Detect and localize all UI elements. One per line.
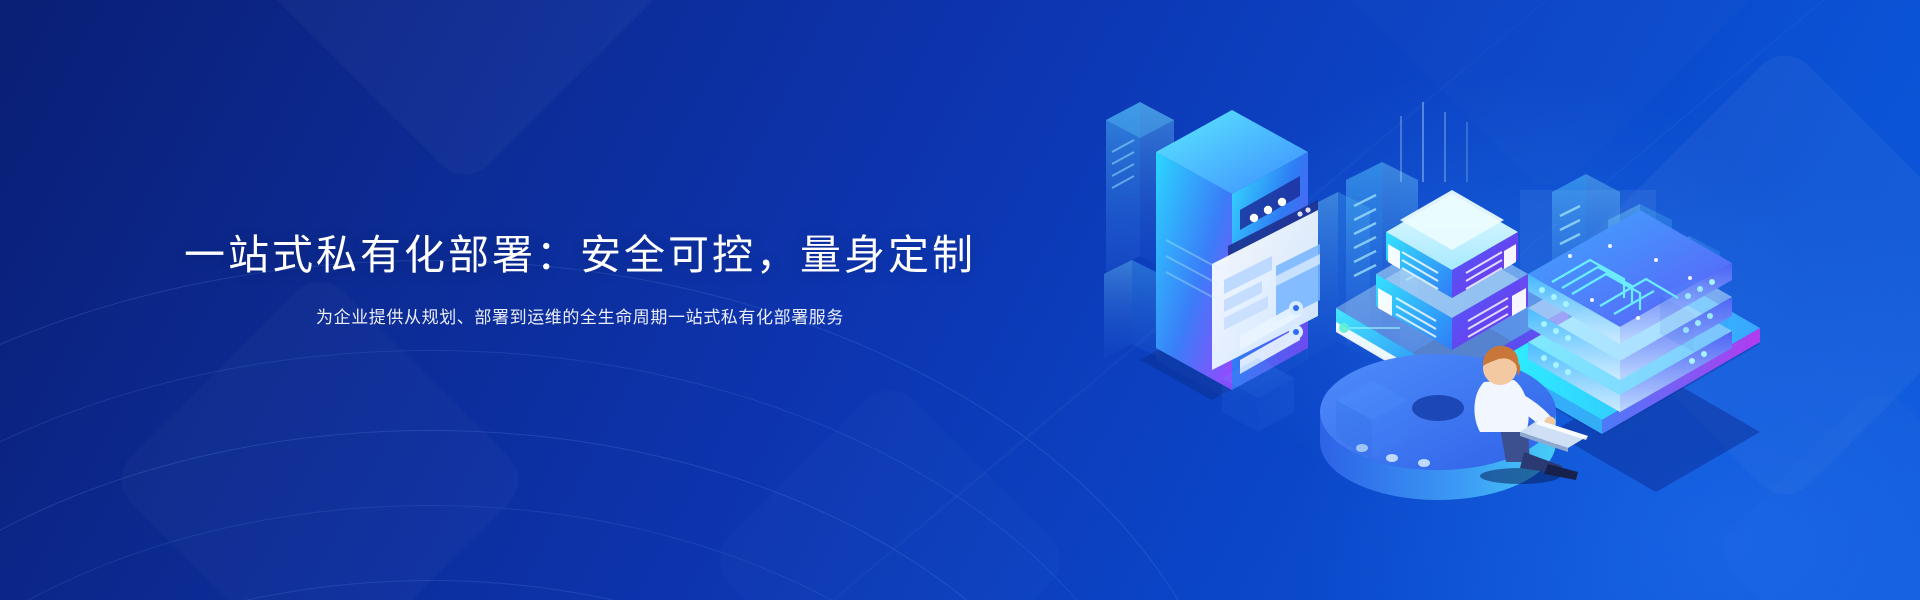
hero-banner: 一站式私有化部署：安全可控，量身定制 为企业提供从规划、部署到运维的全生命周期一…	[0, 0, 1920, 600]
server-cabinet	[1156, 110, 1320, 402]
banner-copy-block: 一站式私有化部署：安全可控，量身定制 为企业提供从规划、部署到运维的全生命周期一…	[0, 0, 1160, 600]
banner-headline: 一站式私有化部署：安全可控，量身定制	[184, 229, 976, 281]
hero-illustration	[1100, 60, 1780, 540]
banner-subheadline: 为企业提供从规划、部署到运维的全生命周期一站式私有化部署服务	[316, 304, 844, 331]
